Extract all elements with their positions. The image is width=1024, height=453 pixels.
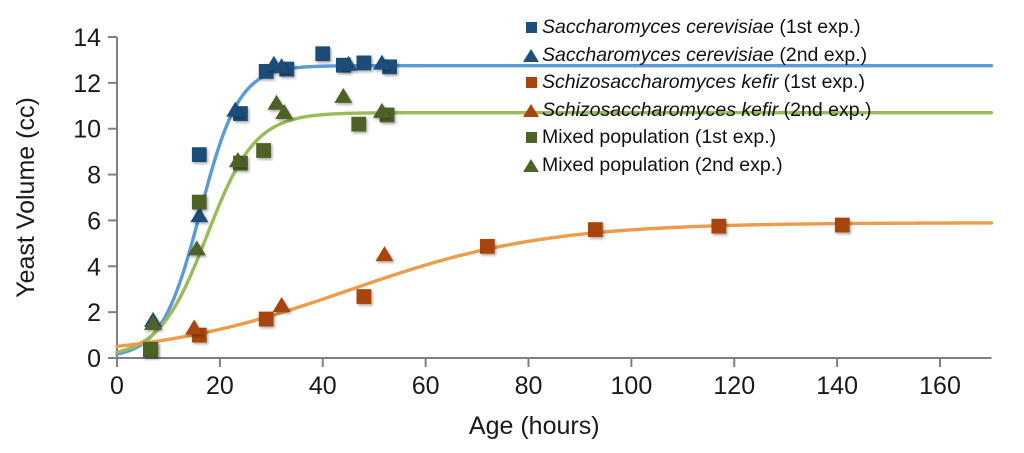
x-axis-tick-label: 20 xyxy=(206,372,234,400)
data-point-square xyxy=(192,147,207,162)
legend-marker-triangle-icon xyxy=(520,104,542,117)
legend-marker-square-icon xyxy=(520,22,542,33)
series-markers xyxy=(144,55,391,327)
x-axis-tick-label: 80 xyxy=(515,372,543,400)
data-point-square xyxy=(357,289,372,304)
y-axis-tick-label: 4 xyxy=(87,253,101,281)
y-axis-tick-label: 8 xyxy=(87,162,101,190)
legend-item[interactable]: Saccharomyces cerevisiae (1st exp.) xyxy=(520,14,1020,42)
triangle-icon xyxy=(523,49,539,62)
x-axis-tick-label: 140 xyxy=(816,372,858,400)
data-point-triangle xyxy=(273,297,291,312)
fitted-curve xyxy=(117,223,991,346)
square-icon xyxy=(526,22,537,33)
legend-species-name: Schizosaccharomyces kefir xyxy=(542,99,778,121)
y-axis-tick-label: 0 xyxy=(87,345,101,373)
data-point-square xyxy=(835,218,850,233)
data-point-triangle xyxy=(185,319,203,334)
x-axis-tick-label: 160 xyxy=(919,372,961,400)
x-axis-title: Age (hours) xyxy=(469,412,600,440)
legend-item[interactable]: Schizosaccharomyces kefir (2nd exp.) xyxy=(520,97,1020,125)
data-point-triangle xyxy=(375,246,393,261)
triangle-icon xyxy=(523,159,539,172)
series-markers xyxy=(143,46,397,357)
data-point-square xyxy=(256,143,271,158)
square-icon xyxy=(526,132,537,143)
y-axis-tick-label: 10 xyxy=(73,116,101,144)
data-point-square xyxy=(588,222,603,237)
data-point-square xyxy=(711,219,726,234)
y-axis-title: Yeast Volume (cc) xyxy=(12,97,40,298)
legend-item[interactable]: Saccharomyces cerevisiae (2nd exp.) xyxy=(520,42,1020,70)
y-axis-tick-label: 6 xyxy=(87,207,101,235)
data-point-square xyxy=(480,239,495,254)
data-point-square xyxy=(351,117,366,132)
legend-marker-triangle-icon xyxy=(520,159,542,172)
square-icon xyxy=(526,77,537,88)
data-point-square xyxy=(192,195,207,210)
data-point-triangle xyxy=(144,315,162,330)
x-axis-tick-label: 100 xyxy=(611,372,653,400)
legend-item-label: Mixed population (2nd exp.) xyxy=(542,156,783,176)
legend-marker-square-icon xyxy=(520,77,542,88)
data-point-square xyxy=(357,56,372,71)
triangle-icon xyxy=(523,104,539,117)
x-axis-tick-label: 0 xyxy=(110,372,124,400)
chart-figure: 02468101214020406080100120140160 Age (ho… xyxy=(0,0,1024,453)
legend-species-name: Schizosaccharomyces kefir xyxy=(542,71,778,93)
legend-marker-square-icon xyxy=(520,132,542,143)
series-markers xyxy=(192,218,850,343)
legend-item[interactable]: Schizosaccharomyces kefir (1st exp.) xyxy=(520,69,1020,97)
y-axis-tick-label: 14 xyxy=(73,24,101,52)
x-axis-tick-label: 120 xyxy=(713,372,755,400)
legend-item-label: Mixed population (1st exp.) xyxy=(542,128,776,148)
data-point-triangle xyxy=(334,88,352,103)
y-axis-tick-label: 2 xyxy=(87,299,101,327)
legend-item-label: Saccharomyces cerevisiae (1st exp.) xyxy=(542,18,861,38)
x-axis-tick-label: 60 xyxy=(412,372,440,400)
x-axis-tick-label: 40 xyxy=(309,372,337,400)
legend-item[interactable]: Mixed population (2nd exp.) xyxy=(520,152,1020,180)
legend-marker-triangle-icon xyxy=(520,49,542,62)
data-point-square xyxy=(315,46,330,61)
data-point-square xyxy=(259,312,274,327)
legend-item-label: Schizosaccharomyces kefir (2nd exp.) xyxy=(542,101,871,121)
data-point-square xyxy=(143,342,158,357)
chart-legend: Saccharomyces cerevisiae (1st exp.)Sacch… xyxy=(520,14,1020,179)
legend-species-name: Saccharomyces cerevisiae xyxy=(542,16,774,38)
y-axis-tick-label: 12 xyxy=(73,70,101,98)
legend-item[interactable]: Mixed population (1st exp.) xyxy=(520,124,1020,152)
legend-item-label: Saccharomyces cerevisiae (2nd exp.) xyxy=(542,46,867,66)
legend-species-name: Saccharomyces cerevisiae xyxy=(542,44,774,66)
legend-item-label: Schizosaccharomyces kefir (1st exp.) xyxy=(542,73,865,93)
